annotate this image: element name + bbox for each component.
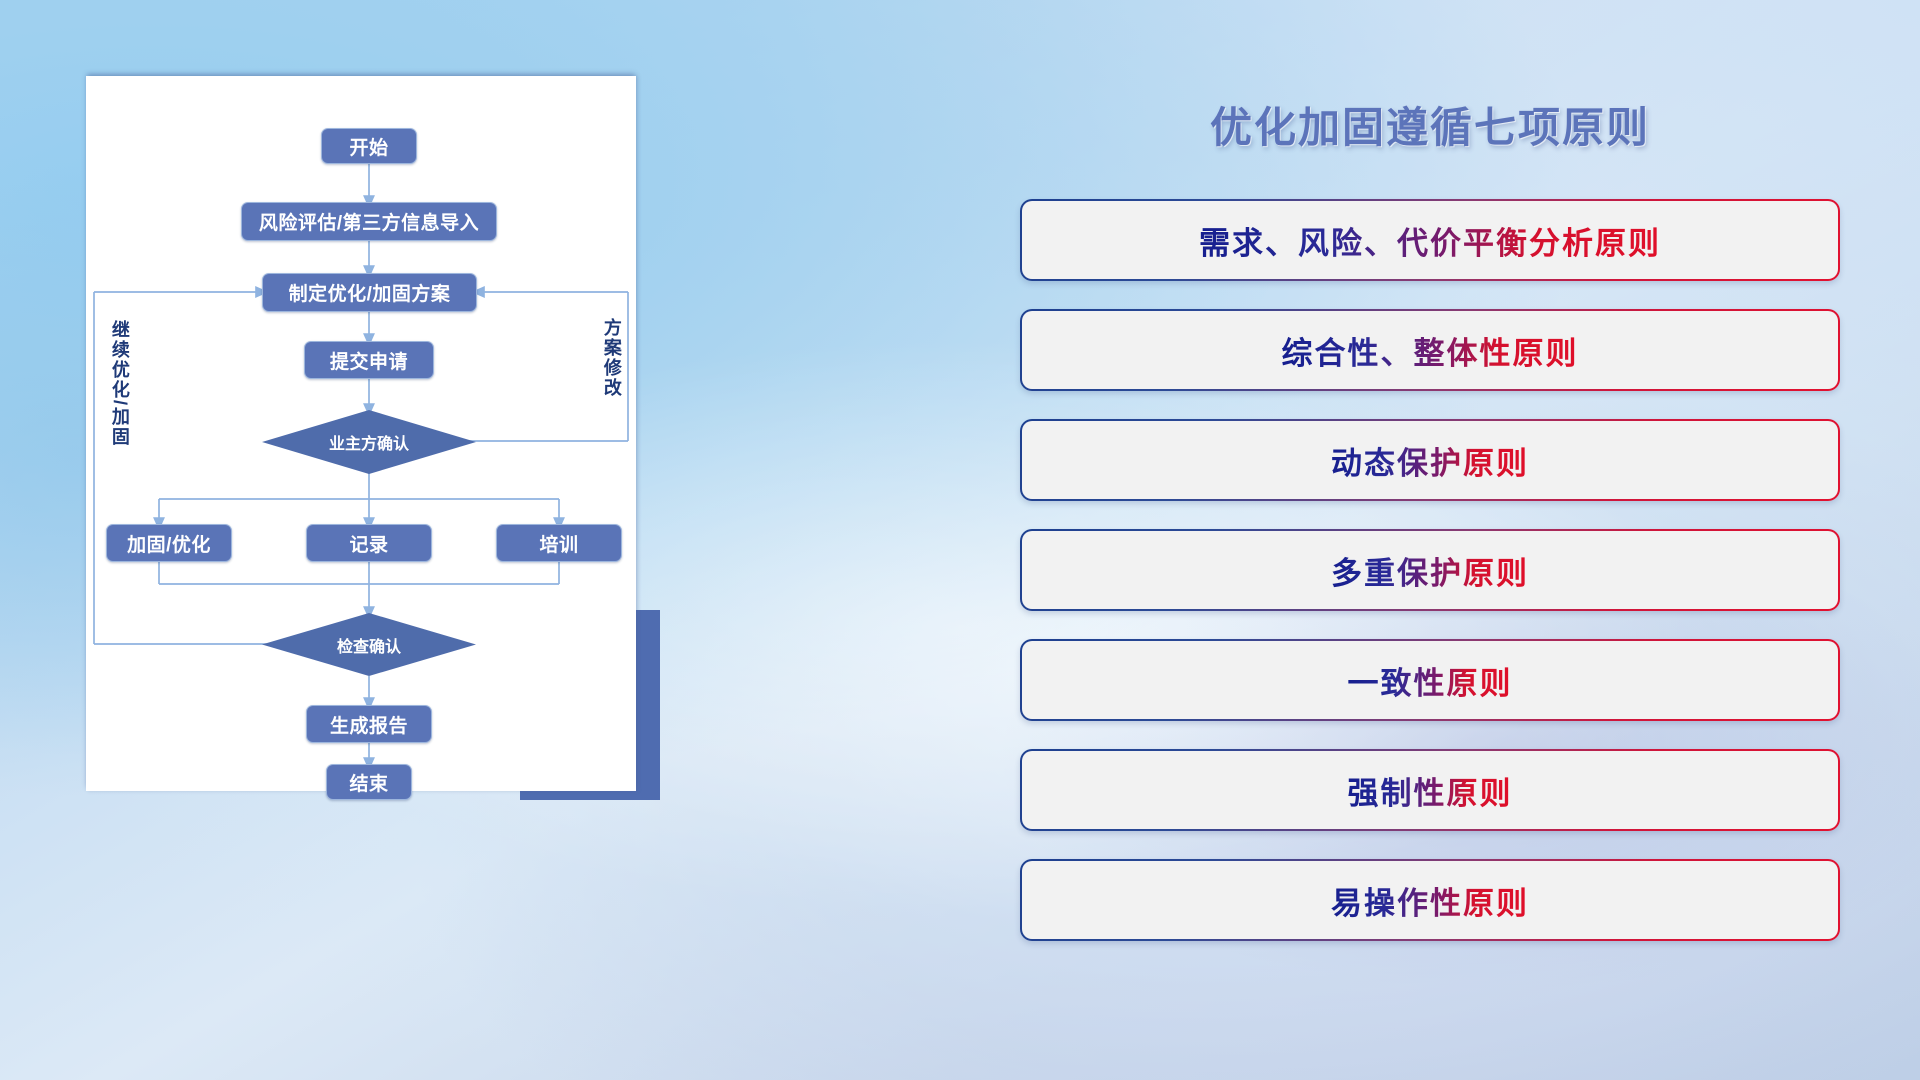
principle-card-1[interactable]: 需求、风险、代价平衡分析原则	[1020, 199, 1840, 281]
principle-card-2-label: 综合性、整体性原则	[1282, 328, 1579, 373]
page-title: 优化加固遵循七项原则	[1020, 94, 1840, 155]
principle-card-3[interactable]: 动态保护原则	[1020, 419, 1840, 501]
edge-label-continue-optimize: 继续优化/加固	[110, 320, 129, 447]
principle-card-7[interactable]: 易操作性原则	[1020, 859, 1840, 941]
principle-card-5-surface: 一致性原则	[1022, 641, 1838, 719]
flow-node-risk-assessment[interactable]: 风险评估/第三方信息导入	[241, 202, 497, 241]
flow-node-inspection-confirm-label: 检查确认	[337, 633, 401, 657]
principle-card-3-surface: 动态保护原则	[1022, 421, 1838, 499]
flow-node-owner-confirm[interactable]: 业主方确认	[262, 410, 476, 474]
principle-card-4[interactable]: 多重保护原则	[1020, 529, 1840, 611]
principle-card-2-surface: 综合性、整体性原则	[1022, 311, 1838, 389]
principle-card-3-label: 动态保护原则	[1331, 438, 1529, 483]
principle-card-6-surface: 强制性原则	[1022, 751, 1838, 829]
flow-node-owner-confirm-label: 业主方确认	[329, 430, 409, 454]
principle-card-list: 需求、风险、代价平衡分析原则 综合性、整体性原则 动态保护原则 多重保护原则 一…	[1020, 199, 1840, 941]
principle-card-1-surface: 需求、风险、代价平衡分析原则	[1022, 201, 1838, 279]
flow-node-make-plan[interactable]: 制定优化/加固方案	[262, 273, 477, 312]
principle-card-4-surface: 多重保护原则	[1022, 531, 1838, 609]
flow-node-submit-application[interactable]: 提交申请	[304, 341, 434, 379]
principle-card-4-label: 多重保护原则	[1331, 548, 1529, 593]
principle-card-1-label: 需求、风险、代价平衡分析原则	[1199, 218, 1661, 263]
principle-card-7-surface: 易操作性原则	[1022, 861, 1838, 939]
principle-card-6-label: 强制性原则	[1348, 768, 1513, 813]
flow-node-inspection-confirm[interactable]: 检查确认	[262, 613, 476, 676]
flow-node-generate-report[interactable]: 生成报告	[306, 705, 432, 743]
flow-node-end[interactable]: 结束	[326, 764, 412, 800]
principle-card-2[interactable]: 综合性、整体性原则	[1020, 309, 1840, 391]
principles-column: 优化加固遵循七项原则 需求、风险、代价平衡分析原则 综合性、整体性原则 动态保护…	[1020, 78, 1840, 1018]
flowchart-panel: 继续优化/加固 方案修改 开始 风险评估/第三方信息导入 制定优化/加固方案 提…	[86, 76, 636, 791]
flow-node-reinforce-optimize[interactable]: 加固/优化	[106, 524, 232, 562]
principle-card-5[interactable]: 一致性原则	[1020, 639, 1840, 721]
principle-card-7-label: 易操作性原则	[1331, 878, 1529, 923]
edge-label-plan-revision: 方案修改	[602, 318, 621, 398]
principle-card-6[interactable]: 强制性原则	[1020, 749, 1840, 831]
flow-node-record[interactable]: 记录	[306, 524, 432, 562]
flow-node-start[interactable]: 开始	[321, 128, 417, 164]
flow-node-training[interactable]: 培训	[496, 524, 622, 562]
principle-card-5-label: 一致性原则	[1348, 658, 1513, 703]
